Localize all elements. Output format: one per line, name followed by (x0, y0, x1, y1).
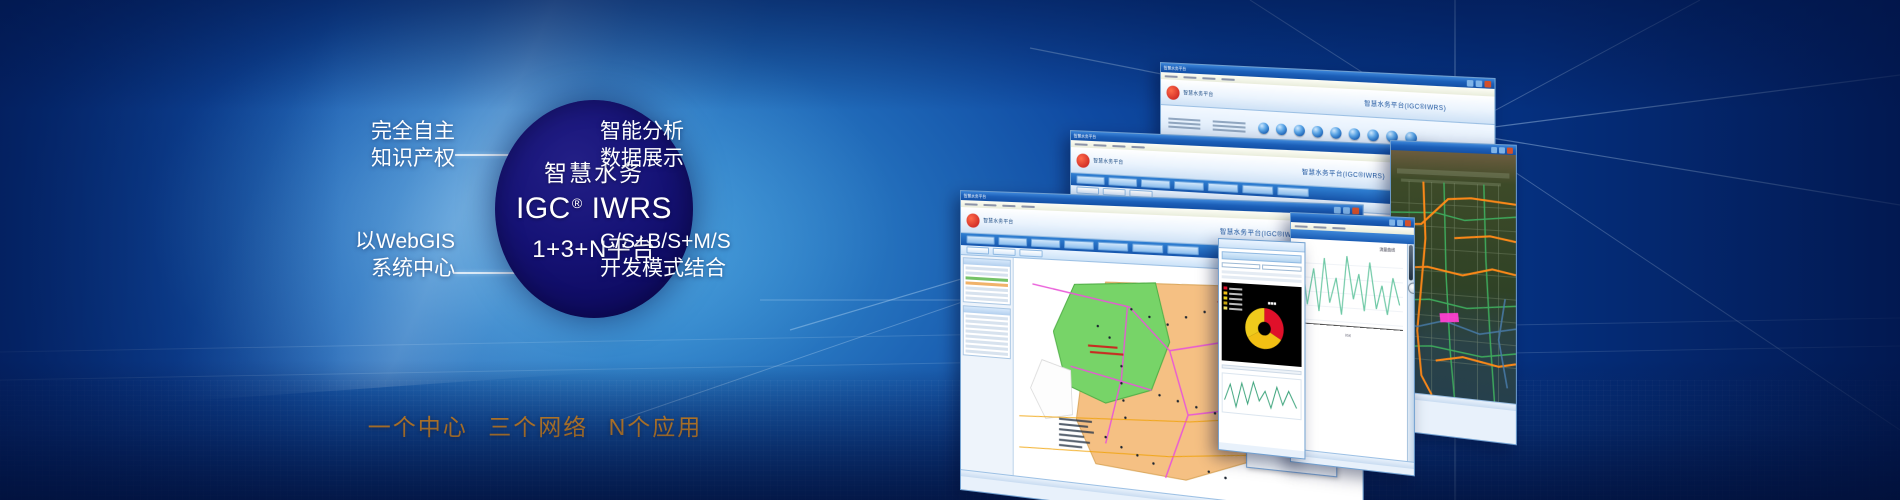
panel-title-bar (964, 258, 1010, 267)
window-back-caption: 智慧水务平台 (1164, 65, 1186, 72)
water-drop-logo-icon (1167, 85, 1180, 100)
window-middle-app-title: 智慧水务平台(IGC®IWRS) (1302, 167, 1385, 181)
feature-bottom-left-line1: 以WebGIS (255, 228, 455, 255)
window-controls[interactable] (1467, 79, 1491, 87)
ribbon-group-left (1168, 117, 1200, 129)
nav-item-2[interactable] (1031, 238, 1060, 248)
feature-top-right-line1: 智能分析 (600, 118, 815, 145)
attribute-panel[interactable] (963, 305, 1011, 359)
window-controls[interactable] (1389, 219, 1411, 226)
feature-bottom-left: 以WebGIS 系统中心 (255, 228, 455, 283)
feature-bottom-left-line2: 系统中心 (255, 255, 455, 282)
window-controls[interactable] (1491, 146, 1513, 153)
feature-top-left: 完全自主 知识产权 (255, 118, 455, 173)
feature-top-right-line2: 数据展示 (600, 145, 815, 172)
subnav-item-0[interactable] (967, 246, 989, 254)
line-chart-panel[interactable]: 流量曲线 时间 (1291, 238, 1407, 461)
subnav-item-1[interactable] (993, 248, 1016, 256)
svg-text:■■■: ■■■ (1268, 302, 1277, 308)
subnav-item-2[interactable] (1019, 249, 1042, 257)
window-front-brand-label: 智慧水务平台 (983, 217, 1013, 225)
feature-bottom-right-line1: C/S+B/S+M/S (600, 228, 815, 255)
window-monitor[interactable]: ■■■ (1218, 238, 1305, 460)
window-back-brand-label: 智慧水务平台 (1183, 89, 1213, 98)
monitor-select[interactable] (1262, 264, 1301, 271)
nav-item-6[interactable] (1167, 245, 1199, 255)
ribbon-icon-4[interactable] (1312, 126, 1323, 138)
ribbon-icon-5[interactable] (1330, 127, 1341, 139)
ribbon-icon-6[interactable] (1349, 128, 1360, 140)
donut-legend (1224, 286, 1243, 310)
water-drop-logo-icon (967, 213, 980, 228)
ribbon-icon-2[interactable] (1276, 123, 1287, 135)
layer-row[interactable] (966, 296, 1008, 302)
window-middle-brand-label: 智慧水务平台 (1093, 157, 1123, 166)
brand-logotype: IGC ® IWRS (516, 193, 672, 225)
nav-item-0[interactable] (1077, 175, 1105, 185)
nav-item-3[interactable] (1064, 240, 1094, 250)
feature-top-right: 智能分析 数据展示 (600, 118, 815, 173)
window-middle-caption: 智慧水务平台 (1074, 133, 1096, 140)
window-back-app-title: 智慧水务平台(IGC®IWRS) (1364, 98, 1446, 112)
layer-list-panel[interactable] (963, 257, 1011, 305)
layer-tree-panel[interactable] (961, 255, 1014, 475)
donut-chart-panel[interactable]: ■■■ (1222, 282, 1302, 367)
mini-line-chart (1222, 372, 1302, 420)
line-chart-svg (1295, 248, 1403, 334)
feature-bottom-right: C/S+B/S+M/S 开发模式结合 (600, 228, 815, 283)
chart-pan-pad[interactable] (1408, 282, 1415, 294)
hero-banner: 智慧水务平台 智慧水务平台 智慧水务平台(IGC®IWRS) (0, 0, 1900, 500)
window-front-caption: 智慧水务平台 (964, 193, 986, 200)
feature-top-left-line1: 完全自主 (255, 118, 455, 145)
brand-en-iwrs: IWRS (592, 193, 672, 225)
nav-item-1[interactable] (1108, 177, 1137, 187)
ribbon-icon-1[interactable] (1258, 122, 1269, 134)
water-drop-logo-icon (1077, 153, 1090, 168)
feature-top-left-line2: 知识产权 (255, 145, 455, 172)
nav-item-0[interactable] (967, 235, 995, 244)
ribbon-group-left2 (1213, 120, 1246, 132)
nav-item-4[interactable] (1208, 183, 1238, 193)
window-chart-body: 流量曲线 时间 (1291, 238, 1414, 462)
nav-item-2[interactable] (1141, 179, 1170, 189)
scrollbar-thumb[interactable] (1409, 245, 1413, 280)
window-controls[interactable] (1334, 206, 1359, 214)
ribbon-icon-7[interactable] (1367, 129, 1378, 141)
nav-item-3[interactable] (1174, 181, 1204, 191)
registered-trademark-icon: ® (572, 196, 583, 210)
monitor-select[interactable] (1222, 262, 1261, 269)
nav-item-6[interactable] (1277, 187, 1309, 197)
chart-scrollbar[interactable] (1407, 244, 1414, 462)
window-chart[interactable]: 流量曲线 时间 (1290, 212, 1415, 476)
nav-item-4[interactable] (1098, 242, 1128, 252)
brand-en-igc: IGC (516, 193, 571, 225)
nav-item-5[interactable] (1242, 185, 1273, 195)
connector-bottom-left (453, 272, 517, 274)
nav-item-5[interactable] (1132, 243, 1163, 253)
nav-item-1[interactable] (998, 237, 1027, 247)
monitor-panel-title (1222, 251, 1302, 263)
feature-bottom-right-line2: 开发模式结合 (600, 255, 815, 282)
ribbon-icon-3[interactable] (1294, 124, 1305, 136)
